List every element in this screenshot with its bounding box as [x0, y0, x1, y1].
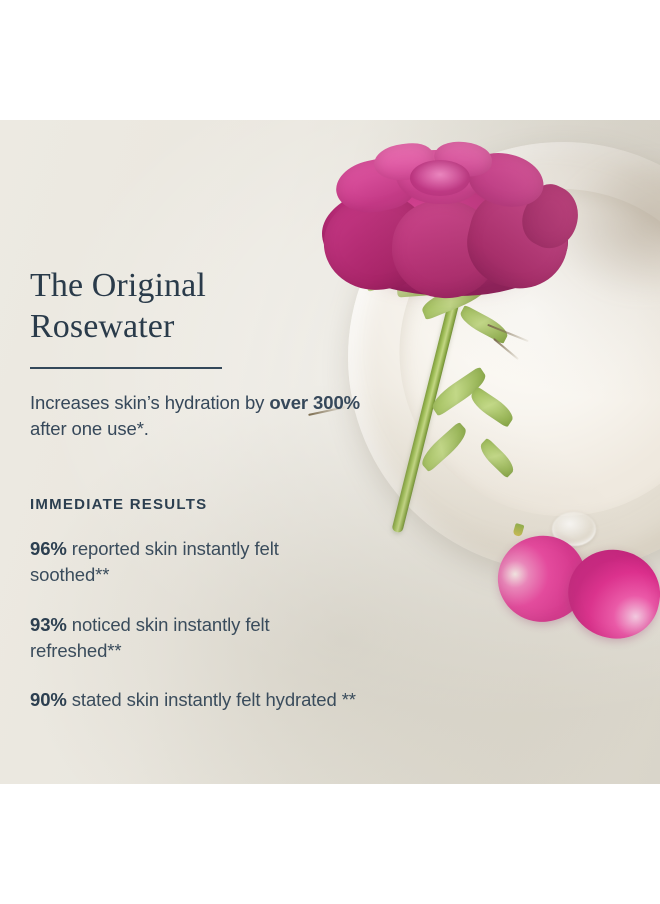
stat-item: 96% reported skin instantly felt soothed… [30, 536, 360, 589]
section-label-immediate-results: IMMEDIATE RESULTS [30, 496, 360, 513]
subheadline: Increases skin’s hydration by over 300% … [30, 390, 360, 443]
divider [30, 367, 222, 369]
page-title: The Original Rosewater [30, 266, 360, 348]
stat-number: 96% [30, 538, 67, 559]
stat-item: 90% stated skin instantly felt hydrated … [30, 687, 360, 713]
stat-text: noticed skin instantly felt refreshed** [30, 614, 270, 661]
stat-number: 93% [30, 614, 67, 635]
headline-line-2: Rosewater [30, 307, 360, 348]
content-panel: The Original Rosewater Increases skin’s … [0, 120, 660, 784]
headline-line-1: The Original [30, 266, 360, 307]
subheadline-suffix: after one use*. [30, 418, 149, 439]
stat-text: stated skin instantly felt hydrated ** [67, 689, 356, 710]
text-column: The Original Rosewater Increases skin’s … [0, 240, 360, 784]
product-benefits-infographic: The Original Rosewater Increases skin’s … [0, 0, 660, 904]
rose-center [410, 160, 470, 196]
stat-number: 90% [30, 689, 67, 710]
subheadline-emphasis: over 300% [269, 392, 360, 413]
subheadline-prefix: Increases skin’s hydration by [30, 392, 269, 413]
stat-text: reported skin instantly felt soothed** [30, 538, 279, 585]
stat-item: 93% noticed skin instantly felt refreshe… [30, 612, 360, 665]
